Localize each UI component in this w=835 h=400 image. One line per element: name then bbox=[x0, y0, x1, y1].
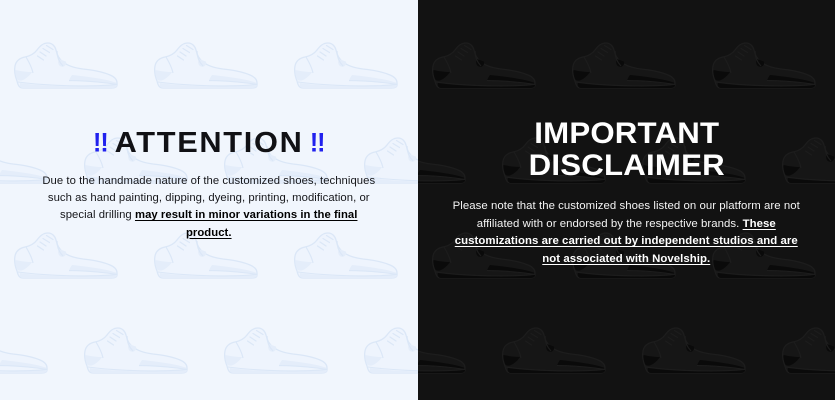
attention-headline: !! ATTENTION !! bbox=[36, 129, 382, 159]
attention-panel: !! ATTENTION !! Due to the handmade natu… bbox=[0, 0, 418, 400]
attention-headline-text: ATTENTION bbox=[114, 129, 303, 159]
attention-body: Due to the handmade nature of the custom… bbox=[36, 173, 382, 243]
disclaimer-panel: IMPORTANT DISCLAIMER Please note that th… bbox=[418, 0, 835, 400]
sneaker-icon bbox=[360, 320, 418, 400]
exclamation-left-icon: !! bbox=[93, 130, 108, 157]
sneaker-icon bbox=[0, 320, 80, 400]
sneaker-icon bbox=[778, 320, 835, 400]
disclaimer-headline: IMPORTANT DISCLAIMER bbox=[440, 118, 812, 182]
disclaimer-content: IMPORTANT DISCLAIMER Please note that th… bbox=[418, 0, 835, 269]
sneaker-icon bbox=[498, 320, 638, 400]
sneaker-icon bbox=[638, 320, 778, 400]
sneaker-icon bbox=[80, 320, 220, 400]
sneaker-pattern-row bbox=[0, 320, 418, 400]
customization-notice-banner: !! ATTENTION !! Due to the handmade natu… bbox=[0, 0, 835, 400]
disclaimer-headline-line1: IMPORTANT bbox=[534, 117, 719, 150]
sneaker-pattern-row bbox=[418, 320, 835, 400]
sneaker-icon bbox=[418, 320, 498, 400]
exclamation-right-icon: !! bbox=[310, 130, 325, 157]
disclaimer-body: Please note that the customized shoes li… bbox=[448, 198, 806, 268]
disclaimer-headline-line2: DISCLAIMER bbox=[528, 149, 724, 182]
attention-content: !! ATTENTION !! Due to the handmade natu… bbox=[0, 0, 418, 242]
attention-body-emphasis: may result in minor variations in the fi… bbox=[135, 209, 358, 238]
sneaker-icon bbox=[220, 320, 360, 400]
